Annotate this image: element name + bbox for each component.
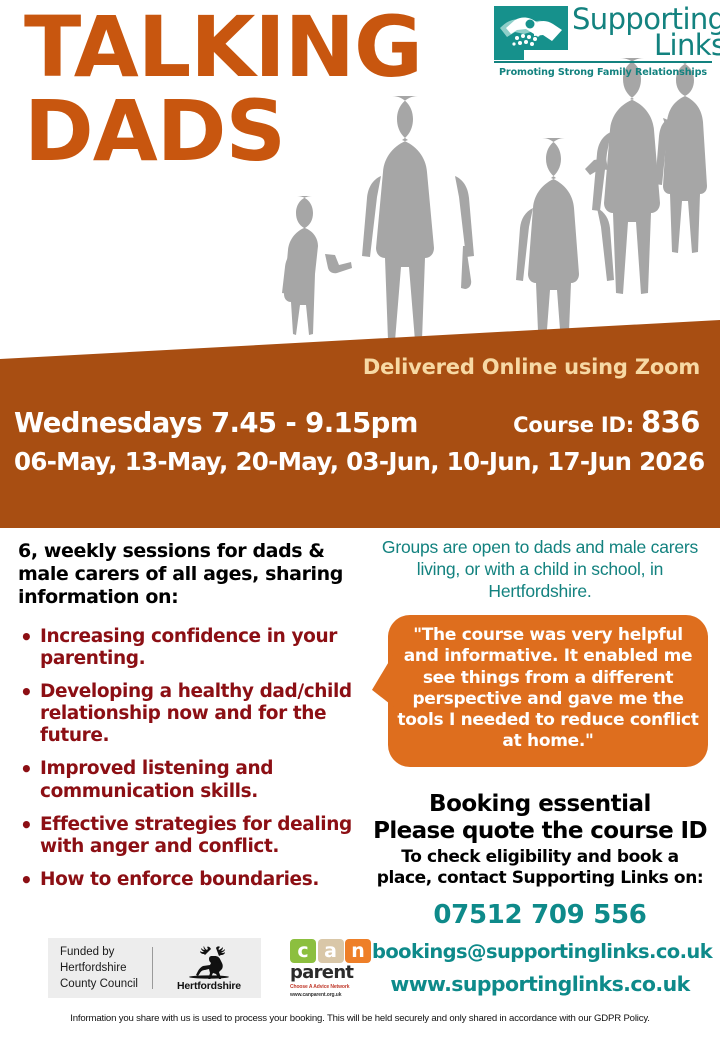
booking-subheading: Please quote the course ID [372, 818, 708, 844]
title-line-1: TALKING [24, 8, 494, 86]
handshake-icon [494, 6, 568, 60]
list-item: Increasing confidence in your parenting. [18, 626, 363, 670]
intro-text: 6, weekly sessions for dads & male carer… [18, 540, 363, 610]
title-line-2: DADS [24, 92, 494, 170]
funded-by-text: Funded by Hertfordshire County Council [48, 944, 152, 993]
course-id-block: Course ID: 836 [513, 405, 706, 439]
list-item: How to enforce boundaries. [18, 869, 363, 891]
right-column: Groups are open to dads and male carers … [372, 536, 708, 996]
hertfordshire-wordmark: Hertfordshire [177, 980, 241, 992]
eligibility-text: Groups are open to dads and male carers … [372, 536, 708, 602]
benefits-list: Increasing confidence in your parenting.… [18, 626, 363, 892]
delivery-mode-label: Delivered Online using Zoom [363, 355, 700, 379]
canparent-tagline-1: Choose A Advice Network [290, 984, 374, 990]
testimonial-bubble: "The course was very helpful and informa… [372, 615, 708, 775]
poster-page: TALKING DADS [0, 0, 720, 1040]
canparent-wordmark: parent [290, 964, 374, 982]
canparent-tile-n: n [345, 939, 371, 963]
schedule-time: Wednesdays 7.45 - 9.15pm [14, 407, 418, 439]
hertfordshire-mark: Hertfordshire [153, 945, 261, 992]
canparent-tagline-2: www.canparent.org.uk [290, 992, 374, 998]
canparent-tiles: c a n [290, 939, 374, 963]
page-title: TALKING DADS [24, 8, 494, 170]
booking-heading: Booking essential [372, 791, 708, 817]
left-column: 6, weekly sessions for dads & male carer… [18, 540, 363, 902]
course-id-label: Course ID: [513, 413, 634, 437]
footer-logos: Funded by Hertfordshire County Council [0, 938, 720, 1000]
hertfordshire-council-logo: Funded by Hertfordshire County Council [48, 938, 261, 998]
testimonial-quote: "The course was very helpful and informa… [396, 625, 700, 753]
logo-tagline: Promoting Strong Family Relationships [494, 67, 712, 78]
list-item: Improved listening and communication ski… [18, 758, 363, 802]
contact-phone[interactable]: 07512 709 556 [372, 900, 708, 930]
schedule-dates: 06-May, 13-May, 20-May, 03-Jun, 10-Jun, … [14, 447, 704, 476]
canparent-logo: c a n parent Choose A Advice Network www… [290, 939, 374, 998]
list-item: Developing a healthy dad/child relations… [18, 681, 363, 748]
list-item: Effective strategies for dealing with an… [18, 814, 363, 858]
course-id-value: 836 [641, 405, 700, 439]
stag-icon [187, 945, 231, 979]
schedule-banner-text: Delivered Online using Zoom Wednesdays 7… [0, 300, 720, 532]
schedule-row: Wednesdays 7.45 - 9.15pm Course ID: 836 [14, 405, 706, 439]
bubble-tail [372, 653, 394, 707]
booking-instructions: To check eligibility and book a place, c… [372, 847, 708, 888]
canparent-tile-a: a [318, 939, 344, 963]
logo-word-2: Links [572, 33, 720, 59]
canparent-tile-c: c [290, 939, 316, 963]
supporting-links-logo: Supporting Links Promoting Strong Family… [494, 6, 712, 78]
